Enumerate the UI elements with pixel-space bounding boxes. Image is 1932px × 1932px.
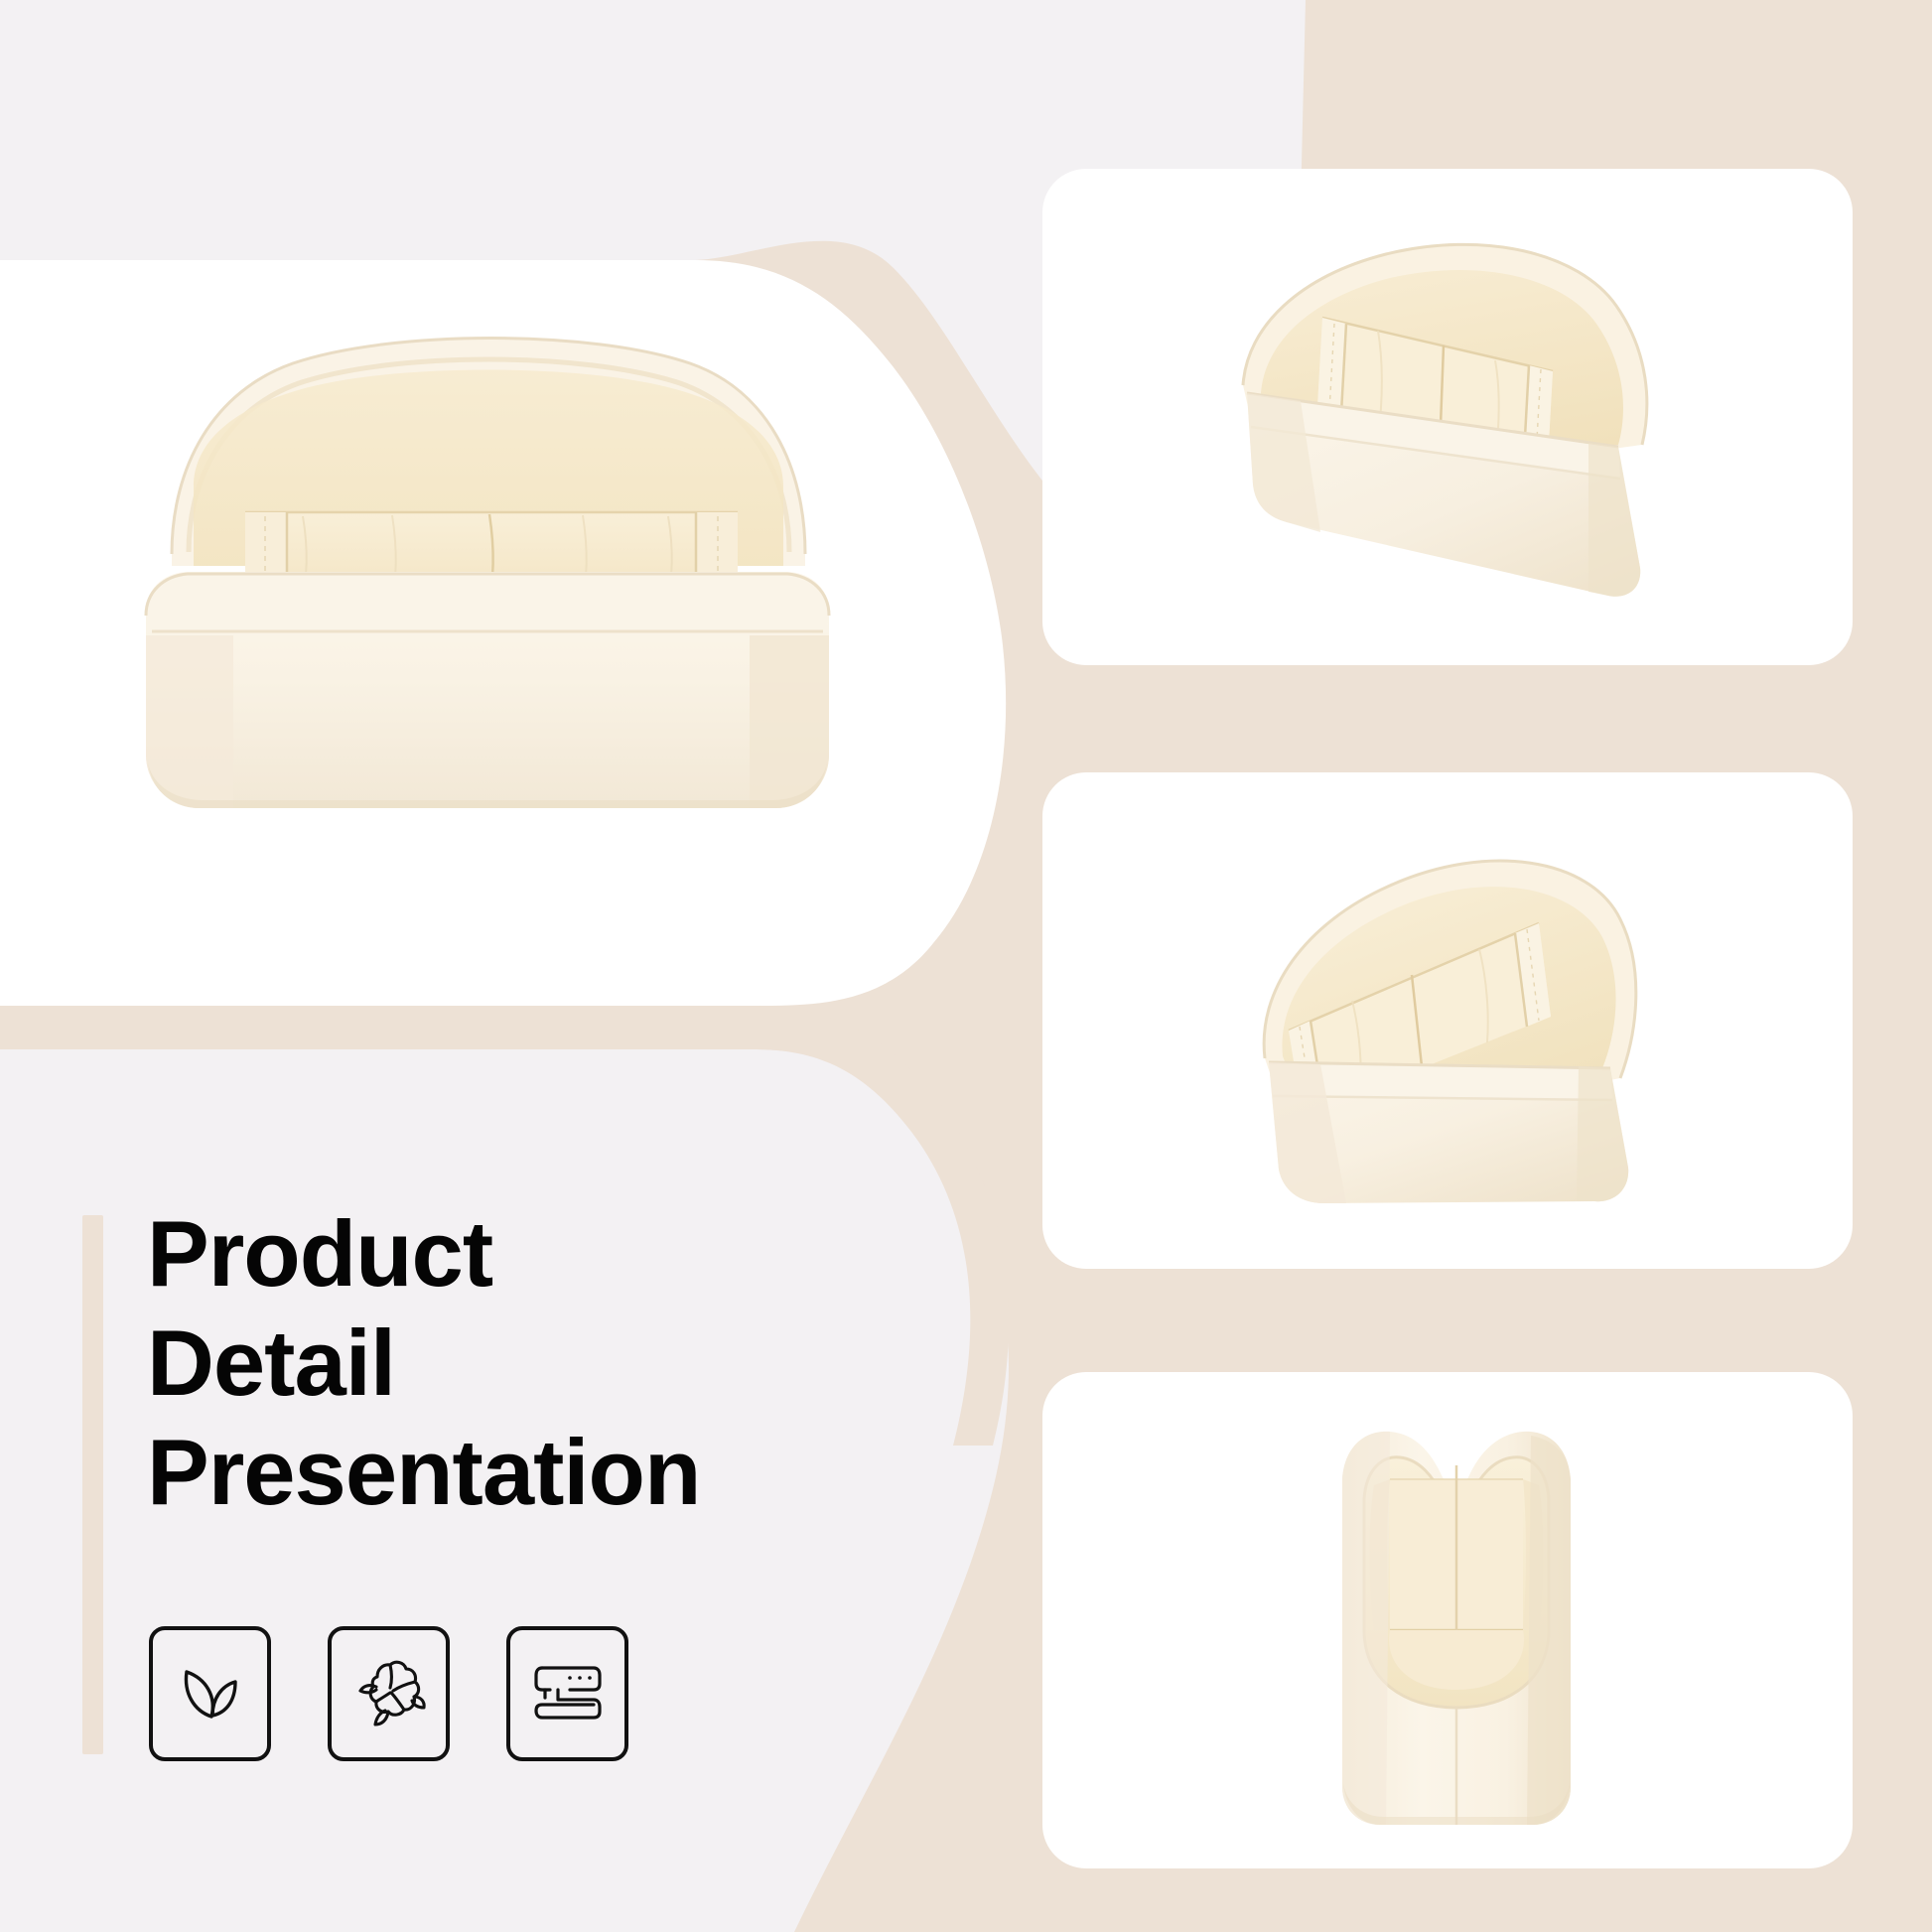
leaf-icon[interactable]: [149, 1626, 271, 1761]
page-title: Product Detail Presentation: [147, 1199, 921, 1527]
product-card-2[interactable]: [1042, 772, 1853, 1269]
product-card-1[interactable]: [1042, 169, 1853, 665]
page-title-line-1: Product: [147, 1199, 921, 1309]
cotton-flower-icon[interactable]: [328, 1626, 450, 1761]
page-title-line-2: Detail: [147, 1309, 921, 1418]
sewing-machine-icon[interactable]: [506, 1626, 628, 1761]
product-card-3[interactable]: [1042, 1372, 1853, 1868]
feature-icon-row: [149, 1626, 628, 1761]
product-image-three-quarter-view: [1162, 802, 1757, 1249]
product-image-front-view: [94, 318, 879, 844]
product-image-angled-top-view: [1152, 199, 1767, 645]
title-accent-bar: [82, 1215, 103, 1754]
product-detail-page: Product Detail Presentation: [0, 0, 1932, 1932]
page-title-line-3: Presentation: [147, 1418, 921, 1527]
product-image-top-down-view: [1291, 1392, 1618, 1859]
